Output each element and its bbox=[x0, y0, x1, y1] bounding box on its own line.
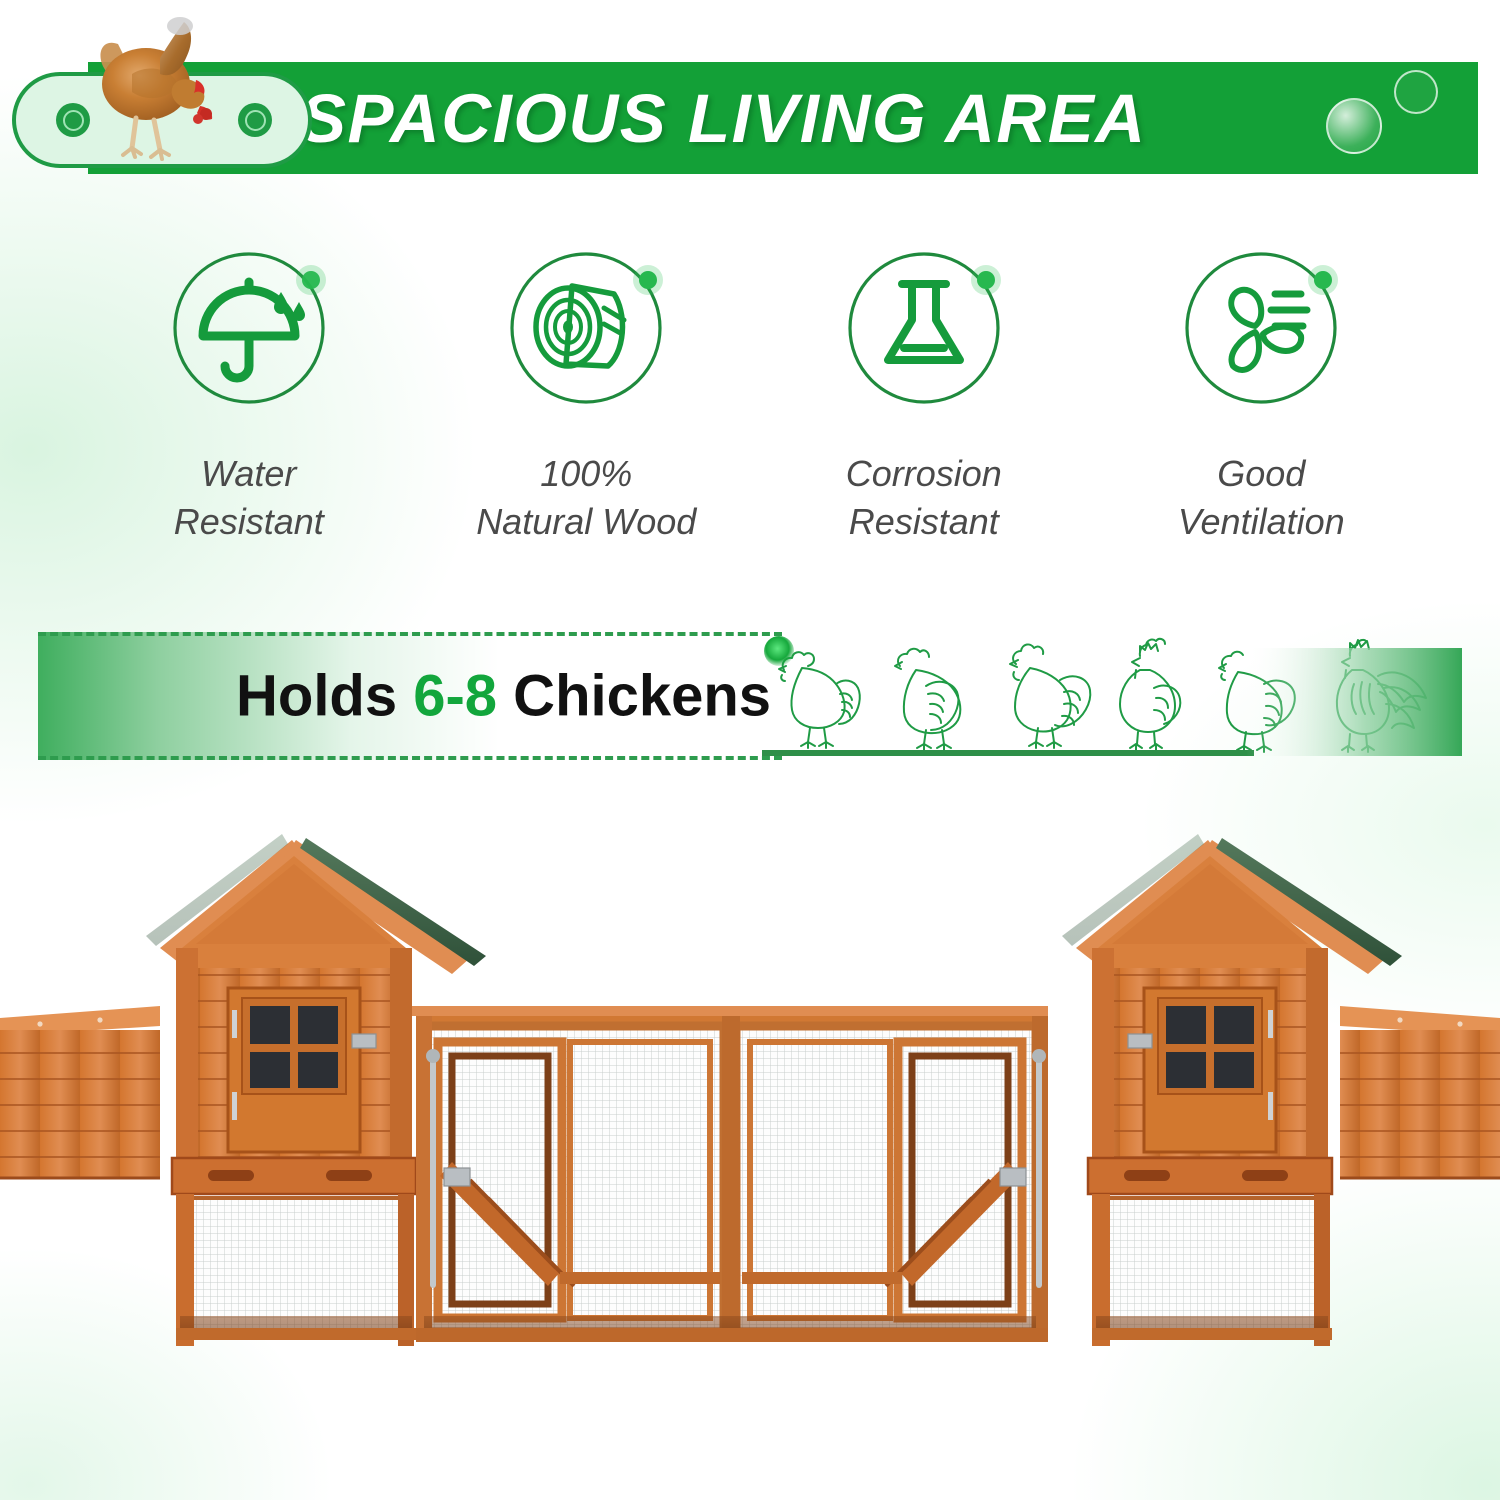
hen-illustration bbox=[74, 2, 244, 177]
flask-beaker-icon bbox=[834, 238, 1014, 418]
page-title: SPACIOUS LIVING AREA bbox=[300, 79, 1147, 158]
holds-banner-text: Holds 6-8 Chickens bbox=[236, 663, 771, 730]
feature-item-good-ventilation: Good Ventilation bbox=[1093, 238, 1431, 546]
holds-glow-dot-icon bbox=[764, 636, 794, 666]
bubble-large-icon bbox=[1326, 98, 1382, 154]
feature-ring-4 bbox=[1171, 238, 1351, 418]
left-run bbox=[176, 1194, 416, 1346]
feature-item-water-resistant: Water Resistant bbox=[80, 238, 418, 546]
feature-label-4: Good Ventilation bbox=[1178, 450, 1345, 546]
right-nesting-wing bbox=[1340, 1006, 1500, 1178]
chicken-line-art-group bbox=[762, 632, 1462, 760]
left-nesting-wing bbox=[0, 1006, 160, 1178]
fan-ventilation-icon bbox=[1171, 238, 1351, 418]
feature-ring-2 bbox=[496, 238, 676, 418]
feature-label-1: Water Resistant bbox=[174, 450, 324, 546]
feature-item-natural-wood: 100% Natural Wood bbox=[418, 238, 756, 546]
chicken-coop-illustration bbox=[0, 820, 1500, 1480]
feature-list: Water Resistant 100% Natu bbox=[80, 238, 1430, 546]
feature-item-corrosion-resistant: Corrosion Resistant bbox=[755, 238, 1093, 546]
feature-label-3: Corrosion Resistant bbox=[846, 450, 1002, 546]
holds-banner: Holds 6-8 Chickens bbox=[38, 632, 1462, 760]
product-image bbox=[0, 820, 1500, 1480]
holds-prefix: Holds bbox=[236, 664, 413, 729]
holds-count: 6-8 bbox=[413, 664, 497, 729]
umbrella-water-drops-icon bbox=[159, 238, 339, 418]
bubble-small-icon bbox=[1394, 70, 1438, 114]
right-run bbox=[1092, 1194, 1332, 1346]
center-run bbox=[412, 1006, 1048, 1342]
infographic-page: SPACIOUS LIVING AREA bbox=[0, 0, 1500, 1500]
holds-suffix: Chickens bbox=[497, 664, 771, 729]
feature-ring-1 bbox=[159, 238, 339, 418]
feature-ring-3 bbox=[834, 238, 1014, 418]
feature-label-2: 100% Natural Wood bbox=[476, 450, 696, 546]
wood-log-rings-icon bbox=[496, 238, 676, 418]
chicken-silhouette-row bbox=[762, 632, 1462, 760]
